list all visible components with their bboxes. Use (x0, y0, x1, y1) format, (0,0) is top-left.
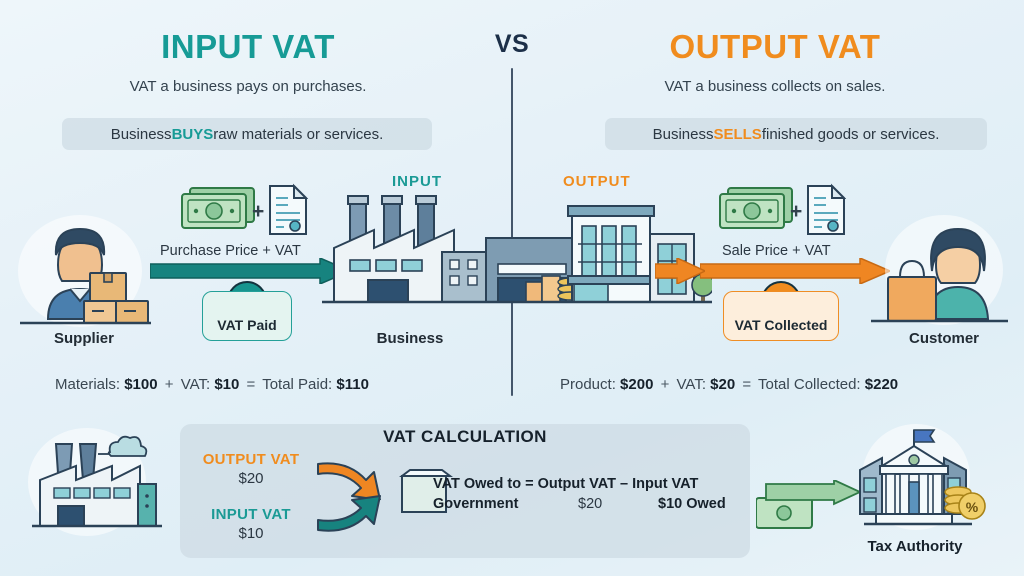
tax-authority-label: Tax Authority (840, 538, 990, 555)
subtitle-output-vat: VAT a business collects on sales. (565, 78, 985, 95)
summary-left: Materials: $100 + VAT: $10 = Total Paid:… (55, 376, 369, 393)
summary-right-item-label: Product: (560, 376, 616, 393)
page-title-input-vat: INPUT VAT (38, 28, 458, 66)
input-flow-label: INPUT (392, 173, 442, 190)
svg-text:+: + (790, 200, 802, 223)
tax-authority-icon: % (848, 424, 988, 536)
left-cash-and-invoice-icons: + (178, 182, 308, 238)
pill-business-buys: Business BUYS raw materials or services. (62, 118, 432, 150)
vat-calculation-title: VAT CALCULATION (180, 427, 750, 447)
output-flow-label: OUTPUT (563, 173, 631, 190)
calc-input-vat-label: INPUT VAT (196, 506, 306, 523)
vat-collected-badge: VAT Collected (723, 291, 839, 341)
supplier-icon (18, 215, 153, 330)
summary-left-total-value: $110 (336, 376, 369, 393)
calc-output-vat-label: OUTPUT VAT (196, 451, 306, 468)
business-label: Business (340, 330, 480, 347)
summary-right-total-label: Total Collected: (758, 376, 861, 393)
right-arrow-label: Sale Price + VAT (722, 243, 831, 259)
svg-text:%: % (966, 499, 979, 515)
summary-right: Product: $200 + VAT: $20 = Total Collect… (560, 376, 898, 393)
factory-icon (18, 428, 168, 540)
customer-icon (870, 215, 1010, 330)
pill-business-sells: Business SELLS finished goods or service… (605, 118, 987, 150)
pill-right-keyword: SELLS (713, 126, 761, 143)
infographic-canvas: INPUT VAT VAT a business pays on purchas… (0, 0, 1024, 576)
summary-left-plus: + (162, 376, 177, 393)
left-flow-arrow-icon (150, 258, 350, 284)
subtitle-input-vat: VAT a business pays on purchases. (38, 78, 458, 95)
pill-right-post: finished goods or services. (762, 126, 940, 143)
summary-left-vat-label: VAT: (181, 376, 210, 393)
customer-label: Customer (880, 330, 1008, 347)
left-arrow-label: Purchase Price + VAT (160, 243, 301, 259)
calc-formula-line1: VAT Owed to = Output VAT – Input VAT (433, 476, 698, 492)
summary-left-vat-value: $10 (214, 376, 239, 393)
calc-formula-result: $10 Owed (658, 496, 726, 512)
pill-left-pre: Business (111, 126, 172, 143)
pill-left-post: raw materials or services. (213, 126, 383, 143)
right-cash-and-invoice-icons: + (716, 182, 846, 238)
summary-left-item-label: Materials: (55, 376, 120, 393)
summary-right-vat-label: VAT: (677, 376, 706, 393)
summary-right-equals: = (739, 376, 754, 393)
vat-paid-badge: VAT Paid (202, 291, 292, 341)
calc-input-vat-value: $10 (196, 525, 306, 542)
calc-input-curved-arrow-icon (316, 492, 394, 536)
summary-right-plus: + (658, 376, 673, 393)
calc-formula-output-amount: $20 (578, 496, 602, 512)
summary-left-item-value: $100 (124, 376, 157, 393)
page-title-output-vat: OUTPUT VAT (565, 28, 985, 66)
pill-left-keyword: BUYS (172, 126, 214, 143)
summary-left-equals: = (244, 376, 259, 393)
summary-right-item-value: $200 (620, 376, 653, 393)
summary-right-vat-value: $20 (710, 376, 735, 393)
business-output-arrow-icon (655, 258, 705, 284)
svg-text:+: + (252, 200, 264, 223)
supplier-label: Supplier (20, 330, 148, 347)
summary-left-total-label: Total Paid: (262, 376, 332, 393)
calc-formula-line2: Government (433, 496, 518, 512)
pill-right-pre: Business (653, 126, 714, 143)
summary-right-total-value: $220 (865, 376, 898, 393)
calc-output-vat-value: $20 (196, 470, 306, 487)
vs-label: VS (462, 30, 562, 59)
business-buildings-icon (322, 190, 712, 318)
right-flow-arrow-icon (700, 258, 890, 284)
